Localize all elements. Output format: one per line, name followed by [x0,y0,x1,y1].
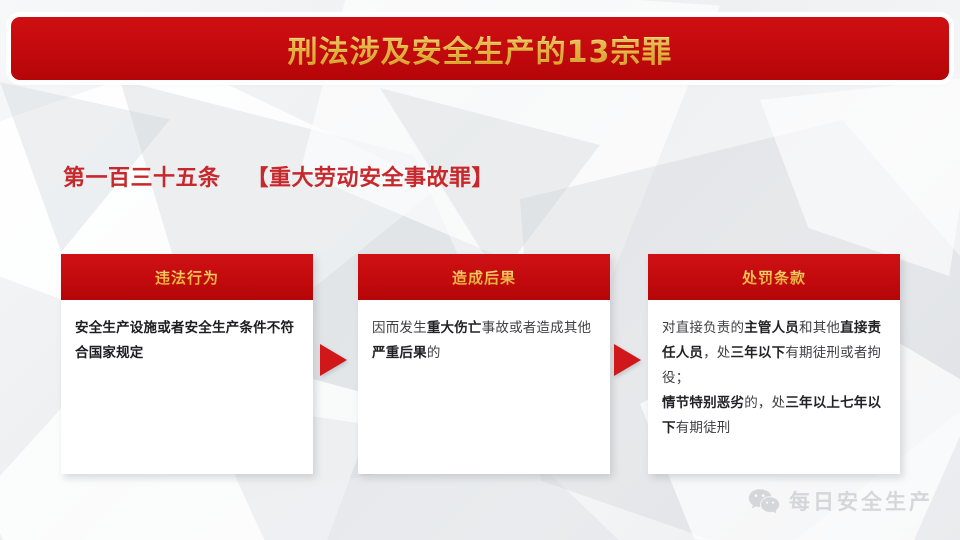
card-body-segment-emphasis: 重大伤亡 [427,320,482,336]
info-card-consequence: 造成后果 因而发生重大伤亡事故或者造成其他严重后果的 [358,254,610,474]
page-title: 刑法涉及安全生产的13宗罪 [288,27,673,71]
card-body-segment: 对直接负责的 [662,320,744,336]
flow-arrow-right-icon [614,344,641,376]
card-body-segment: 有期徒刑 [676,420,731,436]
card-body: 因而发生重大伤亡事故或者造成其他严重后果的 [358,300,610,376]
card-header: 违法行为 [61,254,313,300]
subtitle-crime-name: 【重大劳动安全事故罪】 [247,166,495,191]
flow-arrow-right-icon [320,344,347,376]
subtitle-article-number: 第一百三十五条 [63,166,221,191]
background-facet [760,76,960,276]
card-body-text: 安全生产设施或者安全生产条件不符合国家规定 [75,320,294,361]
card-body-segment: 的 [427,345,441,361]
wechat-icon [748,488,780,515]
card-body-segment: 和其他 [799,320,840,336]
info-card-penalty: 处罚条款 对直接负责的主管人员和其他直接责任人员，处三年以下有期徒刑或者拘役；情… [648,254,900,474]
footer-account-name: 每日安全生产 [789,486,933,516]
info-card-violation: 违法行为 安全生产设施或者安全生产条件不符合国家规定 [61,254,313,474]
footer-watermark: 每日安全生产 [748,486,933,516]
card-body-segment-emphasis: 主管人员 [744,320,799,336]
card-body: 对直接负责的主管人员和其他直接责任人员，处三年以下有期徒刑或者拘役；情节特别恶劣… [648,300,900,451]
card-body-segment: 因而发生 [372,320,427,336]
card-body-segment-emphasis: 三年以下 [731,345,786,361]
card-body-segment: 的，处 [744,395,785,411]
slide-canvas: 刑法涉及安全生产的13宗罪 第一百三十五条【重大劳动安全事故罪】 违法行为 安全… [0,0,960,540]
card-header-label: 造成后果 [452,267,516,288]
card-header: 处罚条款 [648,254,900,300]
card-body-segment-emphasis: 严重后果 [372,345,427,361]
subtitle: 第一百三十五条【重大劳动安全事故罪】 [63,160,494,192]
card-body-segment: 事故或者造成其他 [482,320,592,336]
card-header: 造成后果 [358,254,610,300]
card-body-segment: ，处 [703,345,730,361]
card-header-label: 违法行为 [155,267,219,288]
card-body-segment-emphasis: 情节特别恶劣 [662,395,744,411]
card-body: 安全生产设施或者安全生产条件不符合国家规定 [61,300,313,376]
card-header-label: 处罚条款 [742,267,806,288]
title-banner: 刑法涉及安全生产的13宗罪 [11,17,949,80]
